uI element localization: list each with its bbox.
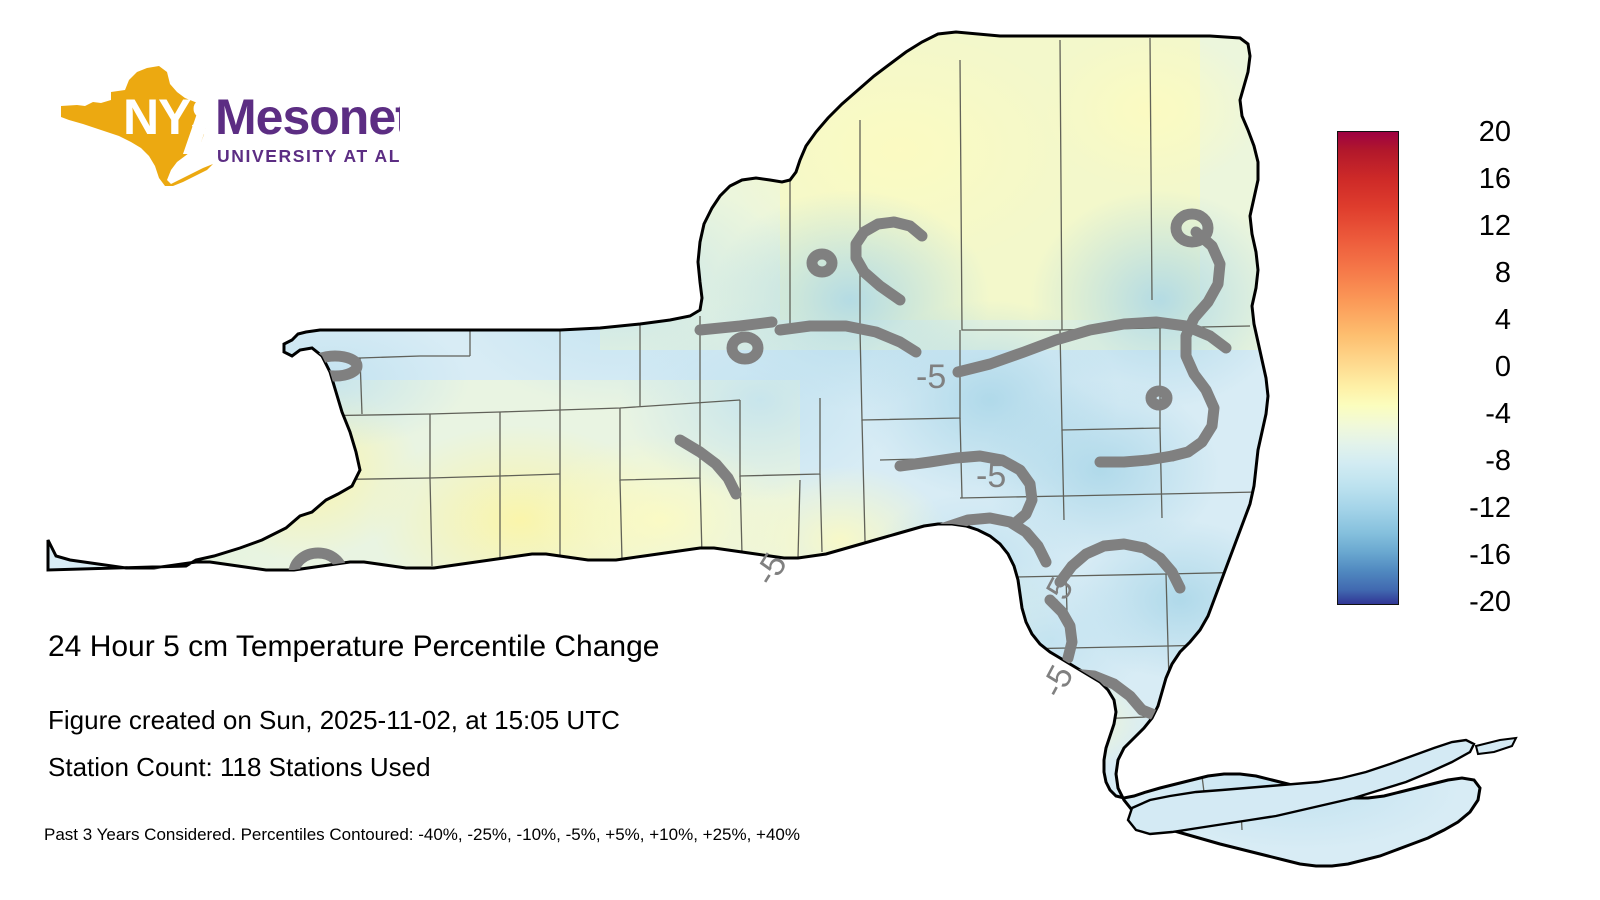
colorbar-tick-minus4: -4 xyxy=(1407,400,1511,429)
colorbar-gradient xyxy=(1337,131,1399,605)
colorbar-tick-minus20: -20 xyxy=(1407,588,1511,617)
colorbar-tick-16: 16 xyxy=(1407,165,1511,194)
colorbar-tick-0: 0 xyxy=(1407,353,1511,382)
colorbar-tick-minus12: -12 xyxy=(1407,494,1511,523)
figure-footnote: Past 3 Years Considered. Percentiles Con… xyxy=(44,825,800,845)
colorbar-tick-12: 12 xyxy=(1407,212,1511,241)
colorbar-tick-minus8: -8 xyxy=(1407,447,1511,476)
contour-label-minus5-a: -5 xyxy=(916,358,946,396)
colorbar-tick-labels: 20 16 12 8 4 0 -4 -8 -12 -16 -20 xyxy=(1407,118,1519,618)
colorbar-tick-20: 20 xyxy=(1407,118,1511,147)
figure-created-at: Figure created on Sun, 2025-11-02, at 15… xyxy=(48,705,620,735)
colorbar: 20 16 12 8 4 0 -4 -8 -12 -16 -20 xyxy=(1337,118,1587,618)
station-count: Station Count: 118 Stations Used xyxy=(48,752,431,782)
colorbar-tick-8: 8 xyxy=(1407,259,1511,288)
colorbar-tick-4: 4 xyxy=(1407,306,1511,335)
contour-label-minus5-b: -5 xyxy=(976,457,1006,495)
figure-title: 24 Hour 5 cm Temperature Percentile Chan… xyxy=(48,630,659,664)
colorbar-tick-minus16: -16 xyxy=(1407,541,1511,570)
